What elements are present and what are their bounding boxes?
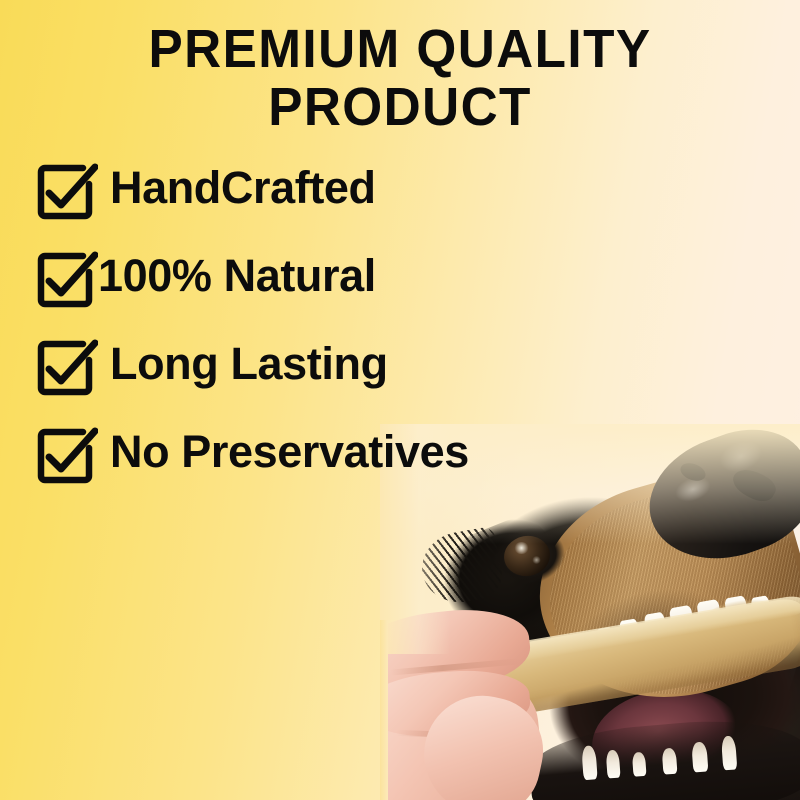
photo-left-edge bbox=[380, 620, 388, 800]
checkbox-checked-icon bbox=[36, 162, 98, 220]
list-item: HandCrafted bbox=[36, 158, 636, 246]
headline-line-1: PREMIUM QUALITY bbox=[20, 20, 780, 78]
list-item: No Preservatives bbox=[36, 422, 636, 510]
list-item-label: HandCrafted bbox=[110, 160, 376, 216]
page-title: PREMIUM QUALITY PRODUCT bbox=[20, 20, 780, 136]
list-item-label: Long Lasting bbox=[110, 336, 388, 392]
dog-eye-highlight-secondary bbox=[532, 556, 541, 564]
checkbox-checked-icon bbox=[36, 250, 98, 308]
list-item: Long Lasting bbox=[36, 334, 636, 422]
headline-line-2: PRODUCT bbox=[20, 78, 780, 136]
checkbox-checked-icon bbox=[36, 338, 98, 396]
list-item-label: No Preservatives bbox=[110, 424, 469, 480]
dog-eye-highlight bbox=[514, 542, 529, 554]
list-item-label: 100% Natural bbox=[98, 248, 376, 304]
list-item: 100% Natural bbox=[36, 246, 636, 334]
poster-canvas: PREMIUM QUALITY PRODUCT HandCrafted 100%… bbox=[0, 0, 800, 800]
feature-checklist: HandCrafted 100% Natural Long Lasting bbox=[36, 158, 636, 510]
checkbox-checked-icon bbox=[36, 426, 98, 484]
